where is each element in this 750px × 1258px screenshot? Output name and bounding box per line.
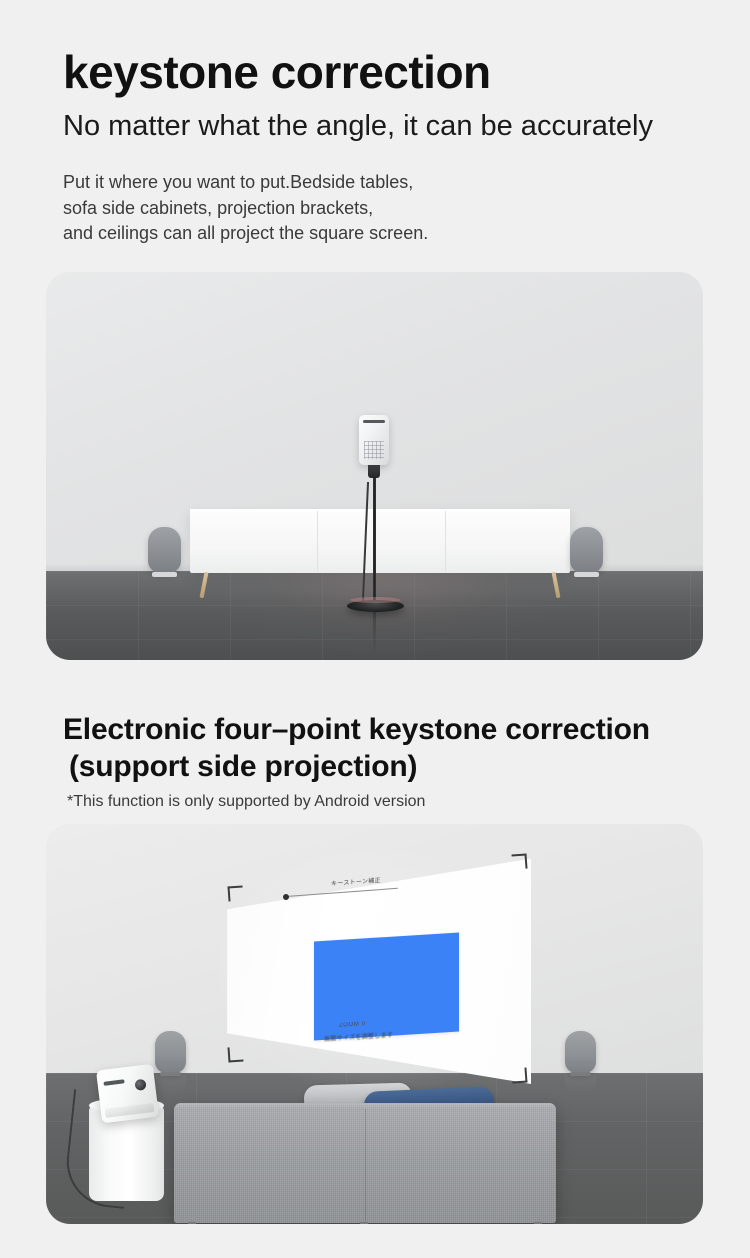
speaker-right-reflection [565,1074,596,1094]
body-line-1: Put it where you want to put.Bedside tab… [63,170,428,196]
section2-heading-line1: Electronic four–point keystone correctio… [63,712,650,749]
console-seam [445,511,446,571]
body-line-3: and ceilings can all project the square … [63,221,428,247]
stand-base [347,600,404,612]
marketing-page: keystone correction No matter what the a… [0,0,750,1258]
stand-reflection [373,612,376,656]
speaker-left [148,527,181,573]
speaker-right [570,527,603,573]
body-line-2: sofa side cabinets, projection brackets, [63,196,428,222]
section2-heading: Electronic four–point keystone correctio… [63,712,650,785]
projector-lens [134,1079,146,1091]
tv-console [190,509,570,573]
sofa-foot [534,1222,542,1224]
hero-image-side-projection: キーストーン補正 ZOOM 0 画面サイズを調整します [46,824,703,1224]
speaker-left-reflection [155,1074,186,1094]
body-copy: Put it where you want to put.Bedside tab… [63,170,428,247]
projector-base [105,1103,155,1118]
hero-image-floor-stand [46,272,703,660]
speaker-left [155,1031,186,1073]
sofa-foot [360,1222,368,1224]
floor-stand-pole [373,470,376,606]
page-subtitle: No matter what the angle, it can be accu… [63,108,653,144]
projector-vent [363,420,385,423]
corner-marker-top-right [511,853,527,869]
projector-device [359,415,389,465]
projected-screen: キーストーン補正 ZOOM 0 画面サイズを調整します [221,854,531,1084]
corner-marker-bottom-left [227,1046,243,1062]
section2-heading-line2: (support side projection) [63,749,650,786]
projector-device [96,1064,159,1124]
sofa-seat-divider [365,1109,366,1221]
blue-test-rectangle [314,932,459,1040]
page-title: keystone correction [63,48,491,96]
sofa-foot [188,1222,196,1224]
section2-footnote: *This function is only supported by Andr… [67,793,425,811]
projector-vent [103,1079,124,1086]
floor-reflection [191,571,585,660]
console-top [190,509,570,512]
sofa [174,1103,556,1223]
corner-marker-bottom-right [511,1067,527,1083]
screen-ui-slider-handle [283,894,289,900]
speaker-right [565,1031,596,1073]
corner-marker-top-left [227,885,243,901]
projector-speaker-grille [364,441,384,459]
console-seam [317,511,318,571]
